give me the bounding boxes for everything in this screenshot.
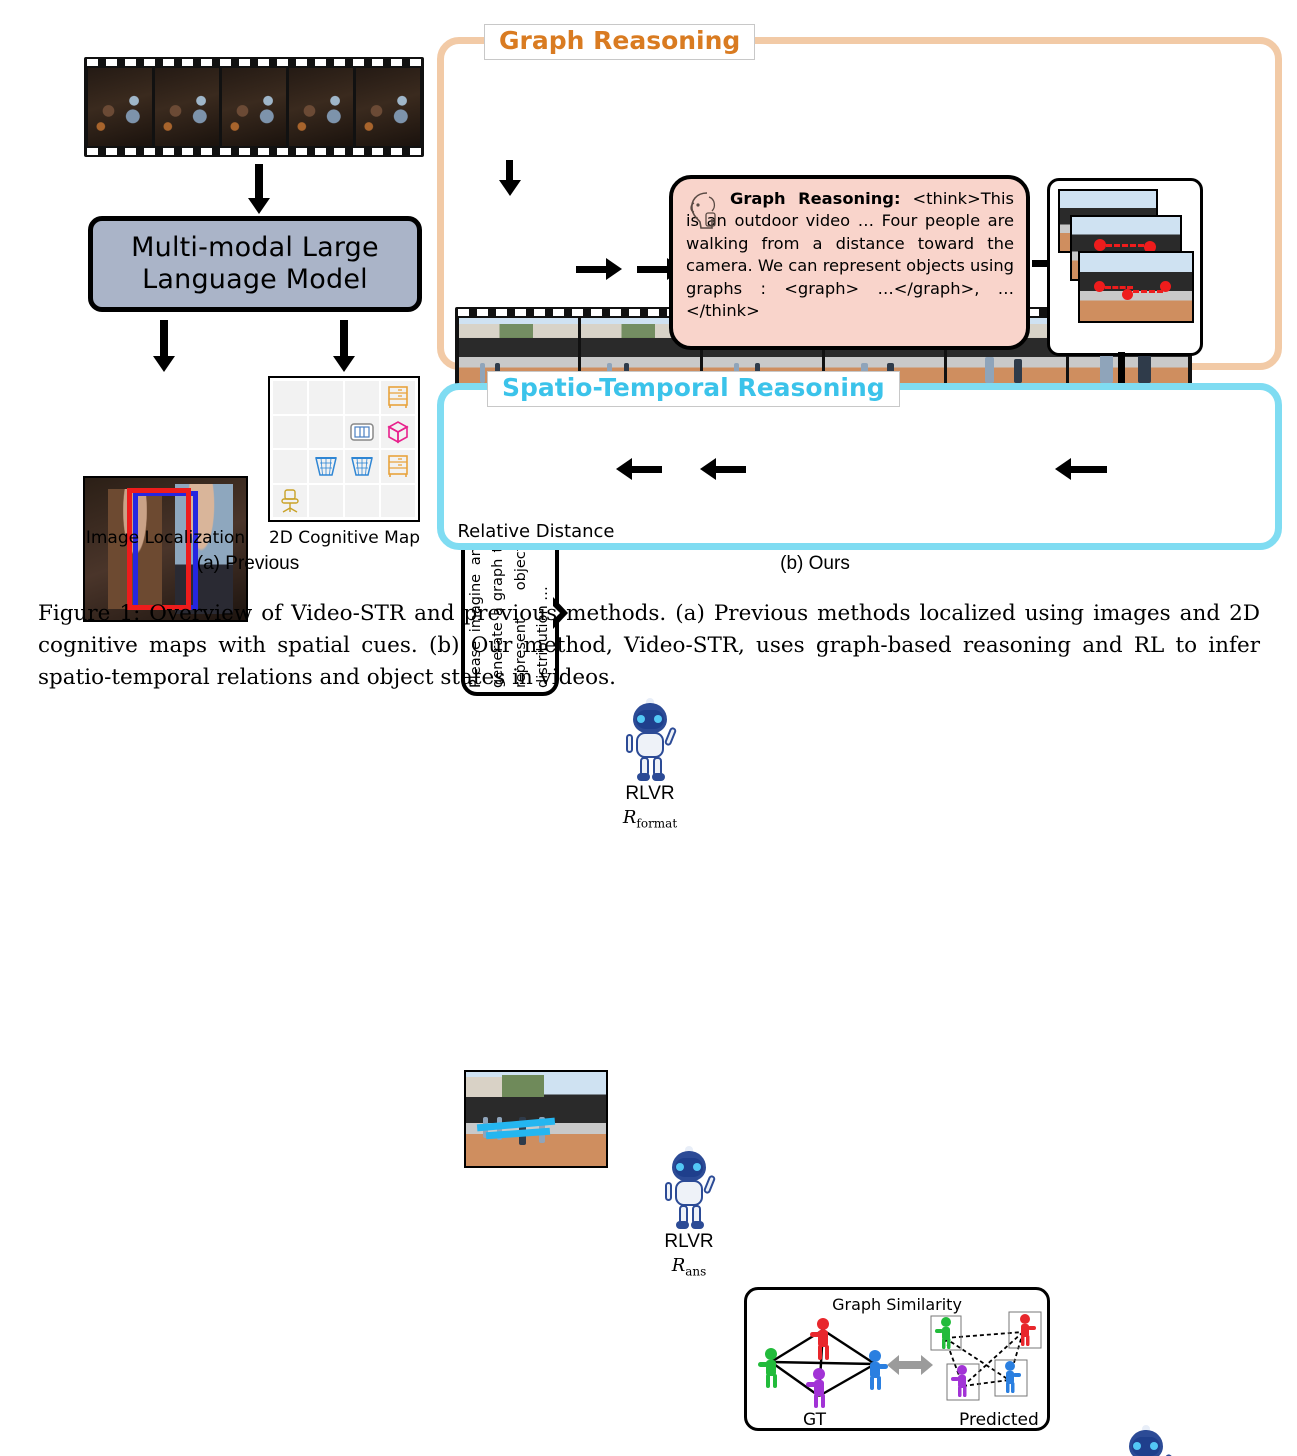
robot-eye-right: [1150, 1442, 1158, 1450]
cogmap-cell: [309, 485, 343, 518]
cogmap-cell: [309, 450, 343, 483]
arrow-prompt-to-rlvr-format: [576, 258, 624, 282]
basket-icon: [313, 454, 339, 478]
cogmap-cell: [309, 381, 343, 414]
graph-reasoning-title: Graph Reasoning: [484, 24, 755, 60]
cogmap-cell: [345, 450, 379, 483]
robot-arm-right: [1160, 1453, 1174, 1456]
arrow-similarity-to-rlvr-ans: [700, 458, 748, 482]
dresser-icon: [385, 384, 411, 410]
cogmap-cell: [345, 381, 379, 414]
film-frame: [88, 68, 152, 146]
gt-graph: [753, 1312, 893, 1412]
dresser-icon: [385, 453, 411, 479]
cogmap-cell: [381, 485, 415, 518]
robot-body: [636, 732, 664, 758]
cogmap-cell: [345, 416, 379, 449]
graph-similarity-box: Graph Similarity GT: [744, 1287, 1050, 1431]
reward-subscript: ans: [685, 1265, 706, 1279]
robot-eye-left: [1133, 1442, 1141, 1450]
rlvr-format-label: RLVR: [625, 783, 674, 805]
arrow-model-to-localization: [152, 320, 176, 374]
bbox-red: [127, 488, 191, 610]
figure-caption: Figure 1: Overview of Video-STR and prev…: [38, 598, 1260, 693]
rlvr-ans-reward: Rans: [672, 1255, 707, 1279]
cogmap-cell: [273, 381, 307, 414]
robot-eye-left: [637, 715, 645, 723]
predicted-label: Predicted: [959, 1410, 1039, 1430]
ours-panel-label: (b) Ours: [715, 553, 915, 575]
relative-distance-thumbnail: [464, 1070, 608, 1168]
robot-eye-left: [676, 1163, 684, 1171]
cogmap-cell: [273, 416, 307, 449]
previous-panel-label: (a) Previous: [148, 553, 348, 575]
thinker-face-icon: [685, 189, 721, 231]
arrow-film-to-model: [247, 164, 271, 216]
window-icon: [349, 421, 375, 443]
film-frame: [222, 68, 286, 146]
mllm-line-2: Language Model: [131, 264, 379, 296]
cognitive-map: [268, 376, 420, 522]
robot-foot-right: [691, 1221, 704, 1229]
annotated-frame: [1078, 251, 1194, 323]
robot-foot-right: [652, 773, 665, 781]
cognitive-map-caption: 2D Cognitive Map: [262, 528, 427, 548]
cogmap-cell: [381, 381, 415, 414]
arrow-rlvr-ans-to-output: [616, 458, 664, 482]
basket-icon: [349, 454, 375, 478]
robot-foot-left: [676, 1221, 689, 1229]
predicted-graph: [927, 1310, 1049, 1414]
box-icon: [385, 419, 411, 445]
robot-eye-right: [693, 1163, 701, 1171]
cogmap-cell: [309, 416, 343, 449]
cogmap-cell: [345, 485, 379, 518]
film-frame: [155, 68, 219, 146]
mllm-box: Multi-modal Large Language Model: [88, 216, 422, 312]
cogmap-cell: [381, 416, 415, 449]
reasoning-bubble: Graph Reasoning: <think>This is an outdo…: [669, 175, 1030, 350]
reward-subscript: format: [636, 817, 677, 831]
robot-arm-left: [665, 1182, 672, 1201]
robot-body: [675, 1180, 703, 1206]
arrow-rlvr-graph-to-similarity: [1055, 458, 1110, 482]
film-frame: [356, 68, 420, 146]
cogmap-cell: [273, 450, 307, 483]
robot-eye-right: [654, 715, 662, 723]
rlvr-format-reward: Rformat: [623, 807, 677, 831]
robot-arm-left: [626, 734, 633, 753]
mllm-line-1: Multi-modal Large: [131, 232, 379, 264]
reward-symbol: R: [623, 807, 637, 828]
rlvr-ans-robot: RLVR Rans: [650, 1151, 728, 1286]
robot-arm-right: [703, 1174, 717, 1194]
reasoning-body: <think>This is an outdoor video … Four p…: [686, 189, 1014, 320]
image-localization-caption: Image Localization: [58, 528, 273, 548]
arrow-filmstrip-to-prompt: [498, 160, 522, 196]
annotated-frames-box: [1047, 178, 1203, 356]
film-frame: [289, 68, 353, 146]
chair-icon: [277, 488, 303, 514]
cogmap-cell: [381, 450, 415, 483]
arrow-model-to-cogmap: [332, 320, 356, 374]
spatio-temporal-title: Spatio-Temporal Reasoning: [487, 371, 900, 407]
figure-root: Multi-modal Large Language Model Image L…: [0, 0, 1297, 728]
rlvr-ans-label: RLVR: [664, 1231, 713, 1253]
rlvr-graph-robot: RLVR Rgraph: [1107, 1430, 1185, 1456]
reward-symbol: R: [672, 1255, 686, 1276]
gt-label: GT: [803, 1410, 826, 1430]
robot-arm-right: [664, 726, 678, 746]
previous-filmstrip: [84, 57, 424, 157]
cogmap-cell: [273, 485, 307, 518]
robot-foot-left: [637, 773, 650, 781]
relative-distance-caption: Relative Distance: [451, 521, 621, 542]
rlvr-format-robot: RLVR Rformat: [611, 703, 689, 843]
reasoning-heading: Graph Reasoning:: [730, 189, 900, 208]
